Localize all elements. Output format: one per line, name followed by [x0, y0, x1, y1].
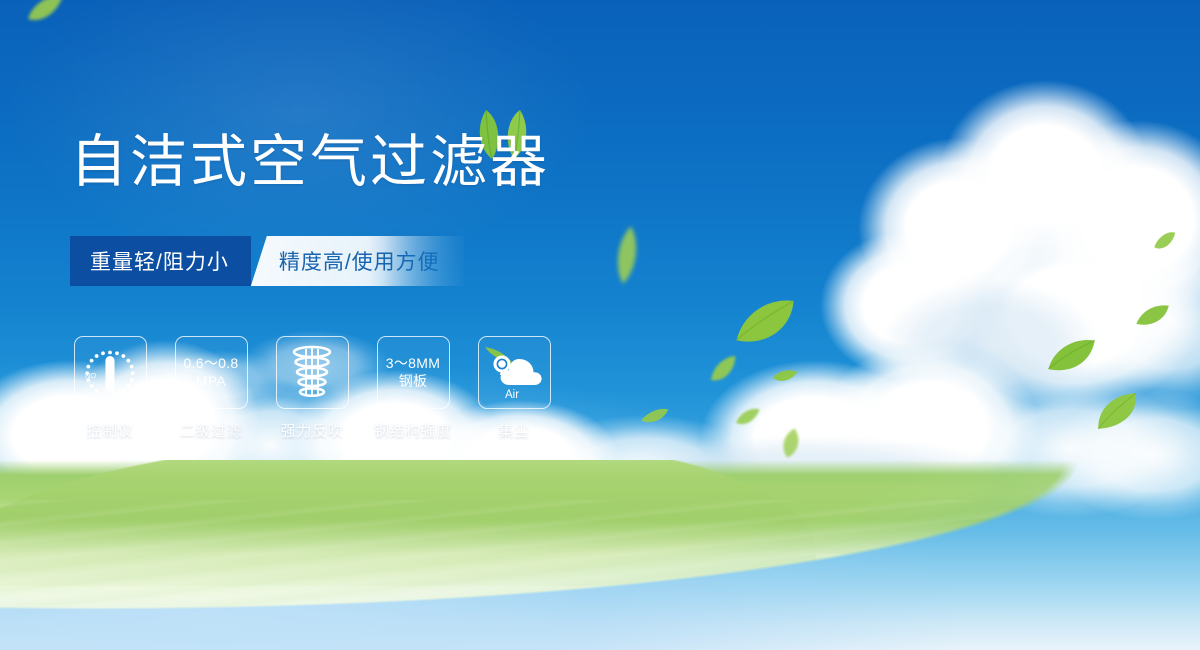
- feature-label: 二级过滤: [180, 420, 242, 441]
- steel-text-icon: 3〜8MM 钢板: [377, 336, 450, 409]
- feature-item-steel[interactable]: 3〜8MM 钢板 钢结构强度: [375, 336, 451, 441]
- feature-item-filtration[interactable]: 0.6〜0.8 MPA 二级过滤: [173, 336, 249, 441]
- coil-icon: [276, 336, 349, 409]
- feature-tag-bar: 重量轻/阻力小 精度高/使用方便: [70, 236, 464, 286]
- feature-label: 控制仪: [87, 420, 134, 441]
- svg-text:NO: NO: [85, 371, 96, 380]
- feature-icon-row: NO OFF 控制仪 0.6〜0.8 MPA 二级过滤: [72, 336, 552, 441]
- promo-banner: 自洁式空气过滤器 重量轻/阻力小 精度高/使用方便: [0, 0, 1200, 650]
- grass-field: [0, 460, 1200, 650]
- feature-label: 钢结构强度: [374, 420, 452, 441]
- feature-label: 强力反吹: [281, 420, 343, 441]
- feature-item-controller[interactable]: NO OFF 控制仪: [72, 336, 148, 441]
- tag-primary-label: 重量轻/阻力小: [90, 246, 229, 276]
- feature-label: 集尘: [498, 420, 529, 441]
- feature-item-backwash[interactable]: 强力反吹: [274, 336, 350, 441]
- steel-value: 3〜8MM 钢板: [386, 355, 440, 390]
- cloud-air-icon: Air: [478, 336, 551, 409]
- pressure-value: 0.6〜0.8 MPA: [183, 355, 238, 390]
- tag-primary: 重量轻/阻力小: [70, 236, 251, 286]
- feature-item-dust[interactable]: Air 集尘: [476, 336, 552, 441]
- svg-text:OFF: OFF: [119, 389, 134, 398]
- svg-text:Air: Air: [505, 389, 519, 401]
- grass-texture: [0, 500, 1200, 650]
- page-title: 自洁式空气过滤器: [70, 132, 550, 194]
- gauge-icon: NO OFF: [74, 336, 147, 409]
- headline-block: 自洁式空气过滤器: [70, 132, 550, 194]
- pressure-text-icon: 0.6〜0.8 MPA: [175, 336, 248, 409]
- tag-secondary: 精度高/使用方便: [251, 236, 464, 286]
- tag-secondary-label: 精度高/使用方便: [279, 246, 440, 276]
